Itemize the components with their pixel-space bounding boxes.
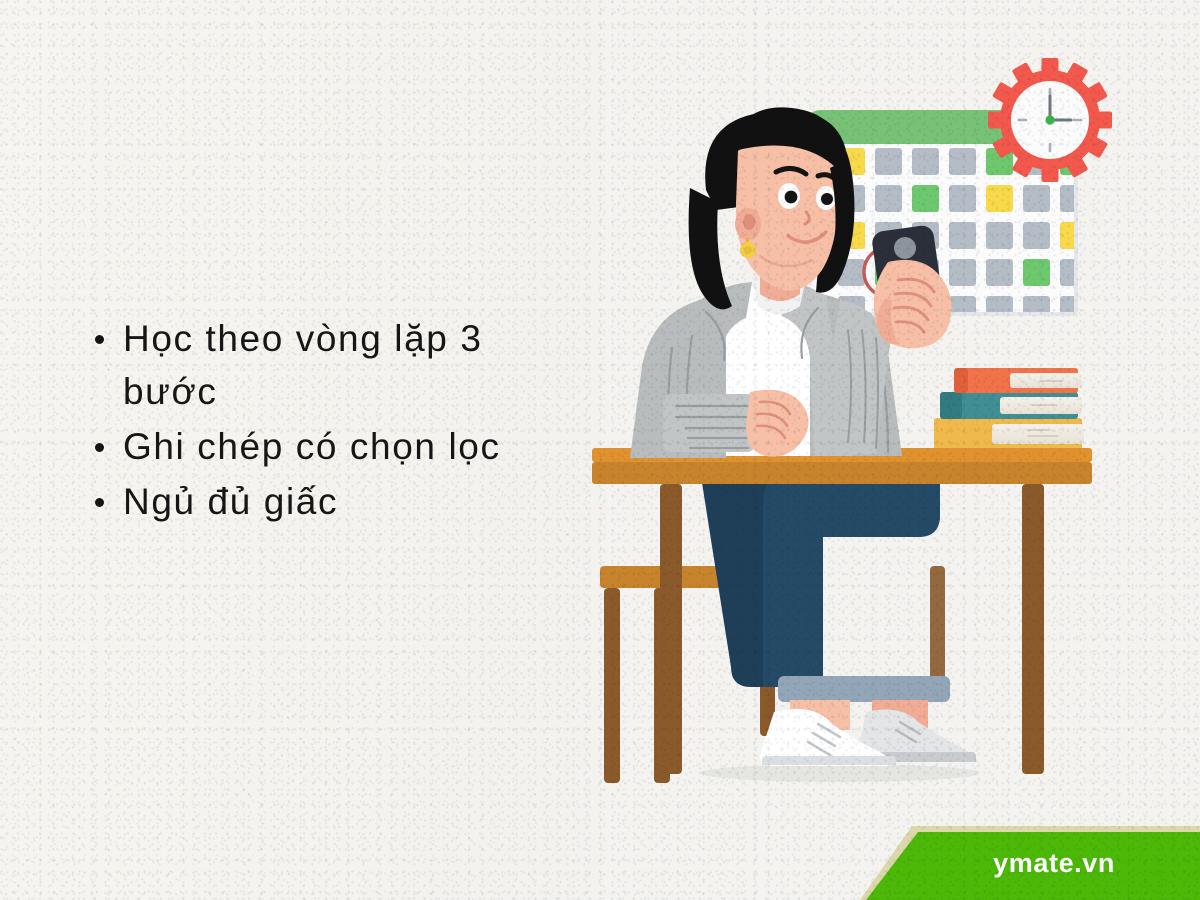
legs xyxy=(700,470,950,730)
list-item: Ghi chép có chọn lọc xyxy=(86,420,556,473)
tips-bullet-list: Học theo vòng lặp 3 bước Ghi chép có chọ… xyxy=(86,312,556,530)
calendar-checked-cell xyxy=(875,259,902,286)
poster-canvas: Học theo vòng lặp 3 bước Ghi chép có chọ… xyxy=(0,0,1200,900)
shoes xyxy=(760,709,976,766)
phone-and-hand xyxy=(871,224,952,348)
calendar-header-bar xyxy=(806,110,1070,144)
calendar-board xyxy=(806,110,1087,316)
calendar-grid xyxy=(838,148,1087,314)
gear-clock-icon xyxy=(988,58,1112,182)
desk xyxy=(592,448,1092,774)
brand-label: ymate.vn xyxy=(860,826,1200,900)
person-head xyxy=(689,107,855,309)
check-icon xyxy=(881,265,897,278)
book-stack xyxy=(934,368,1084,450)
jeans-cuff xyxy=(778,676,950,702)
chair xyxy=(600,566,945,783)
list-item: Ngủ đủ giấc xyxy=(86,475,556,528)
list-item: Học theo vòng lặp 3 bước xyxy=(86,312,556,418)
red-circle-annotation xyxy=(864,247,914,297)
earring xyxy=(740,238,756,258)
footer-brand-banner: ymate.vn xyxy=(860,826,1200,900)
person-body xyxy=(630,278,902,458)
